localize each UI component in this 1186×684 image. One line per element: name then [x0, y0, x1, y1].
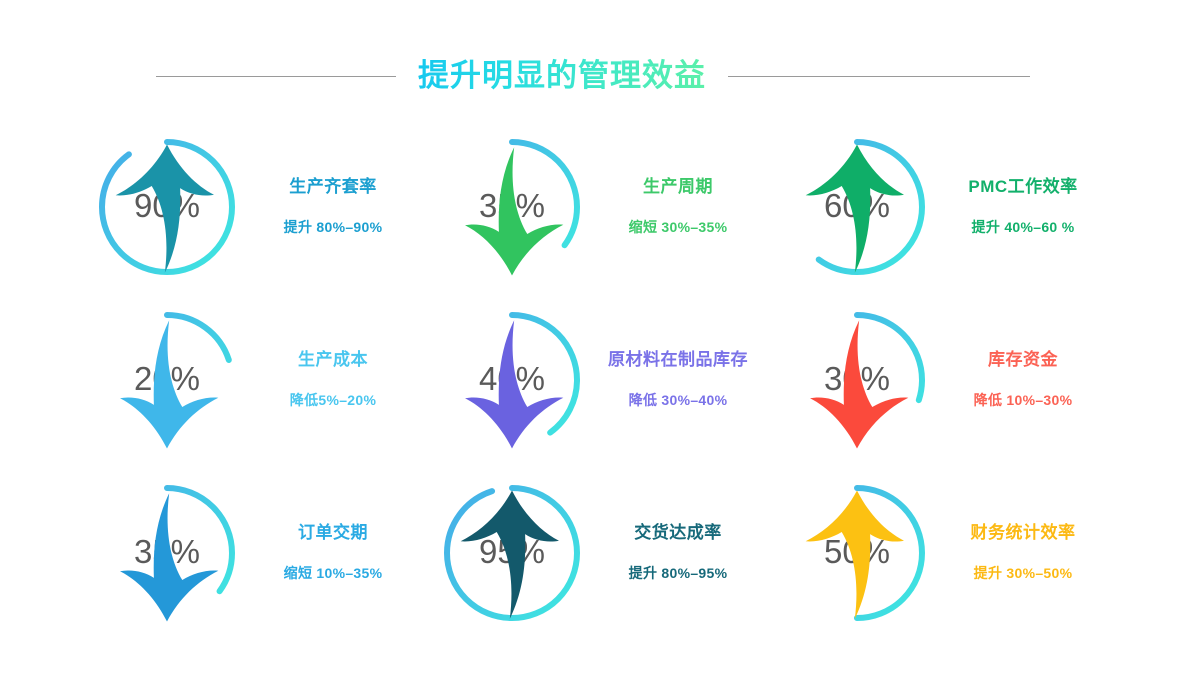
ring-center: 30% [786, 309, 928, 451]
metric-text: 交货达成率提升 80%–95% [603, 523, 753, 581]
metric-card: 20%生产成本降低5%–20% [96, 293, 441, 466]
ring-center: 35% [96, 482, 238, 624]
metric-subtitle: 降低 30%–40% [629, 392, 728, 409]
progress-ring: 20% [96, 309, 238, 451]
ring-center: 95% [441, 482, 583, 624]
metric-title: PMC工作效率 [968, 177, 1077, 197]
arrow-down-icon [96, 485, 238, 627]
metric-card: 40%原材料在制品库存降低 30%–40% [441, 293, 786, 466]
page-header: 提升明显的管理效益 [0, 46, 1186, 106]
progress-ring: 35% [96, 482, 238, 624]
metric-text: 订单交期缩短 10%–35% [258, 523, 408, 581]
arrow-down-icon [441, 312, 583, 454]
metric-subtitle: 缩短 10%–35% [284, 565, 383, 582]
metric-text: 库存资金降低 10%–30% [948, 350, 1098, 408]
metric-card: 95%交货达成率提升 80%–95% [441, 466, 786, 639]
metric-card: 90%生产齐套率提升 80%–90% [96, 120, 441, 293]
metric-text: 生产周期缩短 30%–35% [603, 177, 753, 235]
metric-subtitle: 缩短 30%–35% [629, 219, 728, 236]
progress-ring: 30% [786, 309, 928, 451]
metric-text: 原材料在制品库存降低 30%–40% [603, 350, 753, 408]
arrow-down-icon [441, 139, 583, 281]
ring-center: 60% [786, 136, 928, 278]
page-title: 提升明显的管理效益 [418, 55, 706, 96]
metric-subtitle: 提升 40%–60 % [972, 219, 1075, 236]
ring-center: 35% [441, 136, 583, 278]
progress-ring: 40% [441, 309, 583, 451]
ring-center: 20% [96, 309, 238, 451]
metric-title: 订单交期 [298, 523, 368, 543]
arrow-down-icon [786, 312, 928, 454]
metric-card: 50%财务统计效率提升 30%–50% [786, 466, 1131, 639]
metric-title: 交货达成率 [634, 523, 722, 543]
arrow-down-icon [96, 312, 238, 454]
metric-title: 原材料在制品库存 [608, 350, 748, 370]
metric-title: 生产周期 [643, 177, 713, 197]
metric-card: 30%库存资金降低 10%–30% [786, 293, 1131, 466]
progress-ring: 90% [96, 136, 238, 278]
metric-title: 生产成本 [298, 350, 368, 370]
metric-text: 财务统计效率提升 30%–50% [948, 523, 1098, 581]
metrics-grid: 90%生产齐套率提升 80%–90%35%生产周期缩短 30%–35%60%PM… [96, 120, 1096, 640]
arrow-up-icon [441, 485, 583, 627]
metric-subtitle: 提升 80%–90% [284, 219, 383, 236]
ring-center: 40% [441, 309, 583, 451]
metric-text: 生产成本降低5%–20% [258, 350, 408, 408]
metric-subtitle: 提升 80%–95% [629, 565, 728, 582]
title-rule-left [156, 76, 396, 77]
progress-ring: 60% [786, 136, 928, 278]
metric-card: 35%生产周期缩短 30%–35% [441, 120, 786, 293]
metric-card: 60%PMC工作效率提升 40%–60 % [786, 120, 1131, 293]
metric-card: 35%订单交期缩短 10%–35% [96, 466, 441, 639]
metric-text: 生产齐套率提升 80%–90% [258, 177, 408, 235]
metric-title: 生产齐套率 [289, 177, 377, 197]
title-rule-right [728, 76, 1030, 77]
progress-ring: 50% [786, 482, 928, 624]
ring-center: 50% [786, 482, 928, 624]
metric-title: 财务统计效率 [971, 523, 1076, 543]
progress-ring: 35% [441, 136, 583, 278]
ring-center: 90% [96, 136, 238, 278]
arrow-up-icon [96, 139, 238, 281]
progress-ring: 95% [441, 482, 583, 624]
arrow-up-icon [786, 485, 928, 627]
metric-subtitle: 降低 10%–30% [974, 392, 1073, 409]
metric-title: 库存资金 [988, 350, 1058, 370]
metric-subtitle: 降低5%–20% [290, 392, 376, 409]
arrow-up-icon [786, 139, 928, 281]
metric-text: PMC工作效率提升 40%–60 % [948, 177, 1098, 235]
metric-subtitle: 提升 30%–50% [974, 565, 1073, 582]
